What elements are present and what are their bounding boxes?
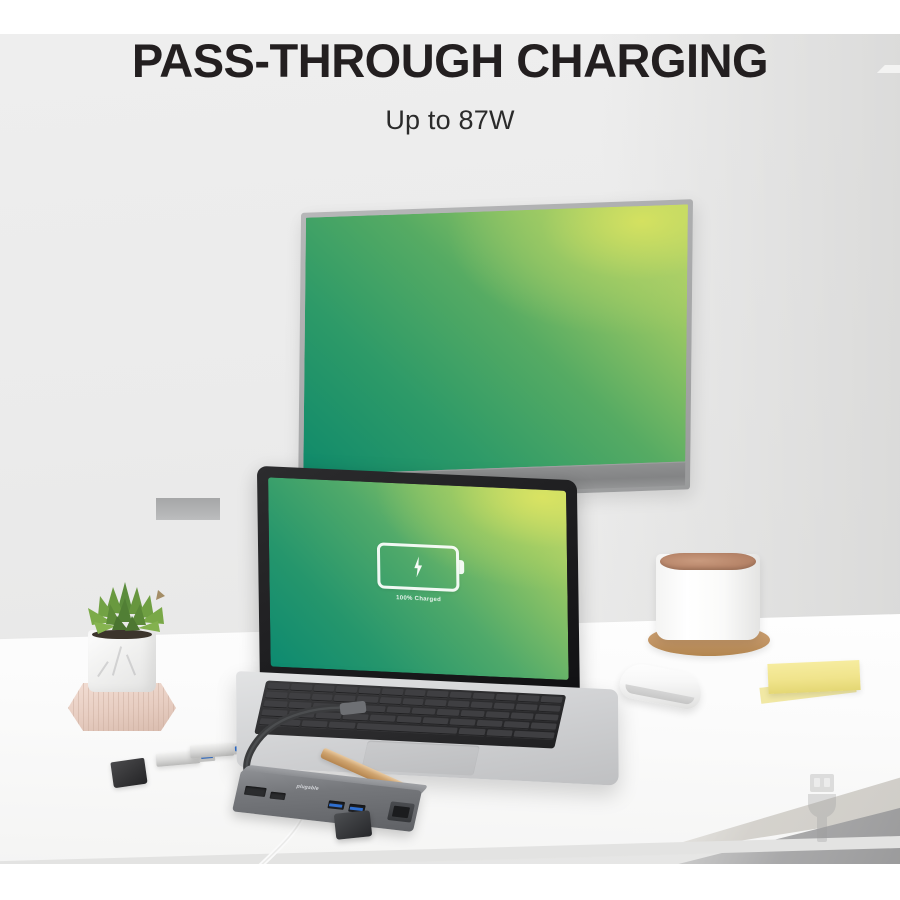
- ethernet-port-opening: [392, 806, 410, 819]
- external-monitor: [298, 199, 693, 503]
- usb-connector-icon: [802, 772, 842, 844]
- battery-status-label: 100% Charged: [378, 594, 460, 604]
- coffee-mug: [656, 554, 760, 640]
- usb-port-1-tongue: [329, 803, 343, 807]
- monitor-stand: [156, 498, 220, 520]
- sticky-note-pad: [767, 660, 860, 694]
- subheadline: Up to 87W: [0, 105, 900, 136]
- battery-charging-icon: [377, 542, 460, 592]
- marketing-copy: PASS-THROUGH CHARGING Up to 87W: [0, 36, 900, 136]
- lightning-bolt-icon: [412, 556, 425, 578]
- headline: PASS-THROUGH CHARGING: [0, 36, 900, 85]
- laptop-screen: 100% Charged: [268, 477, 569, 680]
- sd-card: [110, 758, 147, 788]
- product-marketing-image: 100% Charged MacBook Air: [0, 0, 900, 900]
- ethernet-port[interactable]: [387, 801, 415, 822]
- usb-a-port-1[interactable]: [327, 800, 345, 810]
- battery-charging-graphic: 100% Charged: [377, 542, 460, 604]
- top-white-margin: [0, 0, 900, 34]
- coffee-liquid: [660, 553, 756, 570]
- succulent-plant: [70, 578, 180, 653]
- bottom-white-margin: [0, 864, 900, 900]
- power-plug: [334, 810, 373, 840]
- laptop-lid: 100% Charged MacBook Air: [257, 466, 580, 703]
- monitor-screen: [303, 204, 688, 474]
